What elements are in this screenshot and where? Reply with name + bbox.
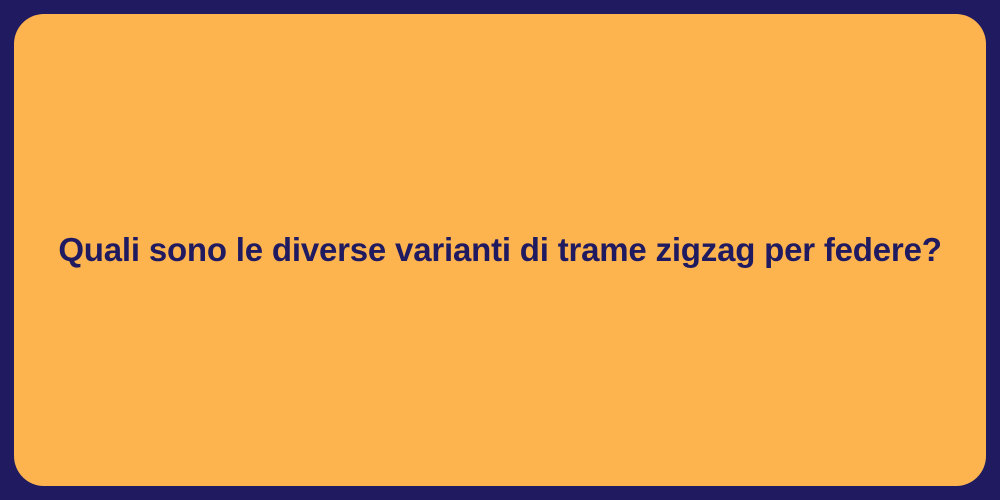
question-title: Quali sono le diverse varianti di trame … <box>58 228 941 272</box>
question-card-frame: Quali sono le diverse varianti di trame … <box>0 0 1000 500</box>
question-card-panel: Quali sono le diverse varianti di trame … <box>14 14 986 486</box>
